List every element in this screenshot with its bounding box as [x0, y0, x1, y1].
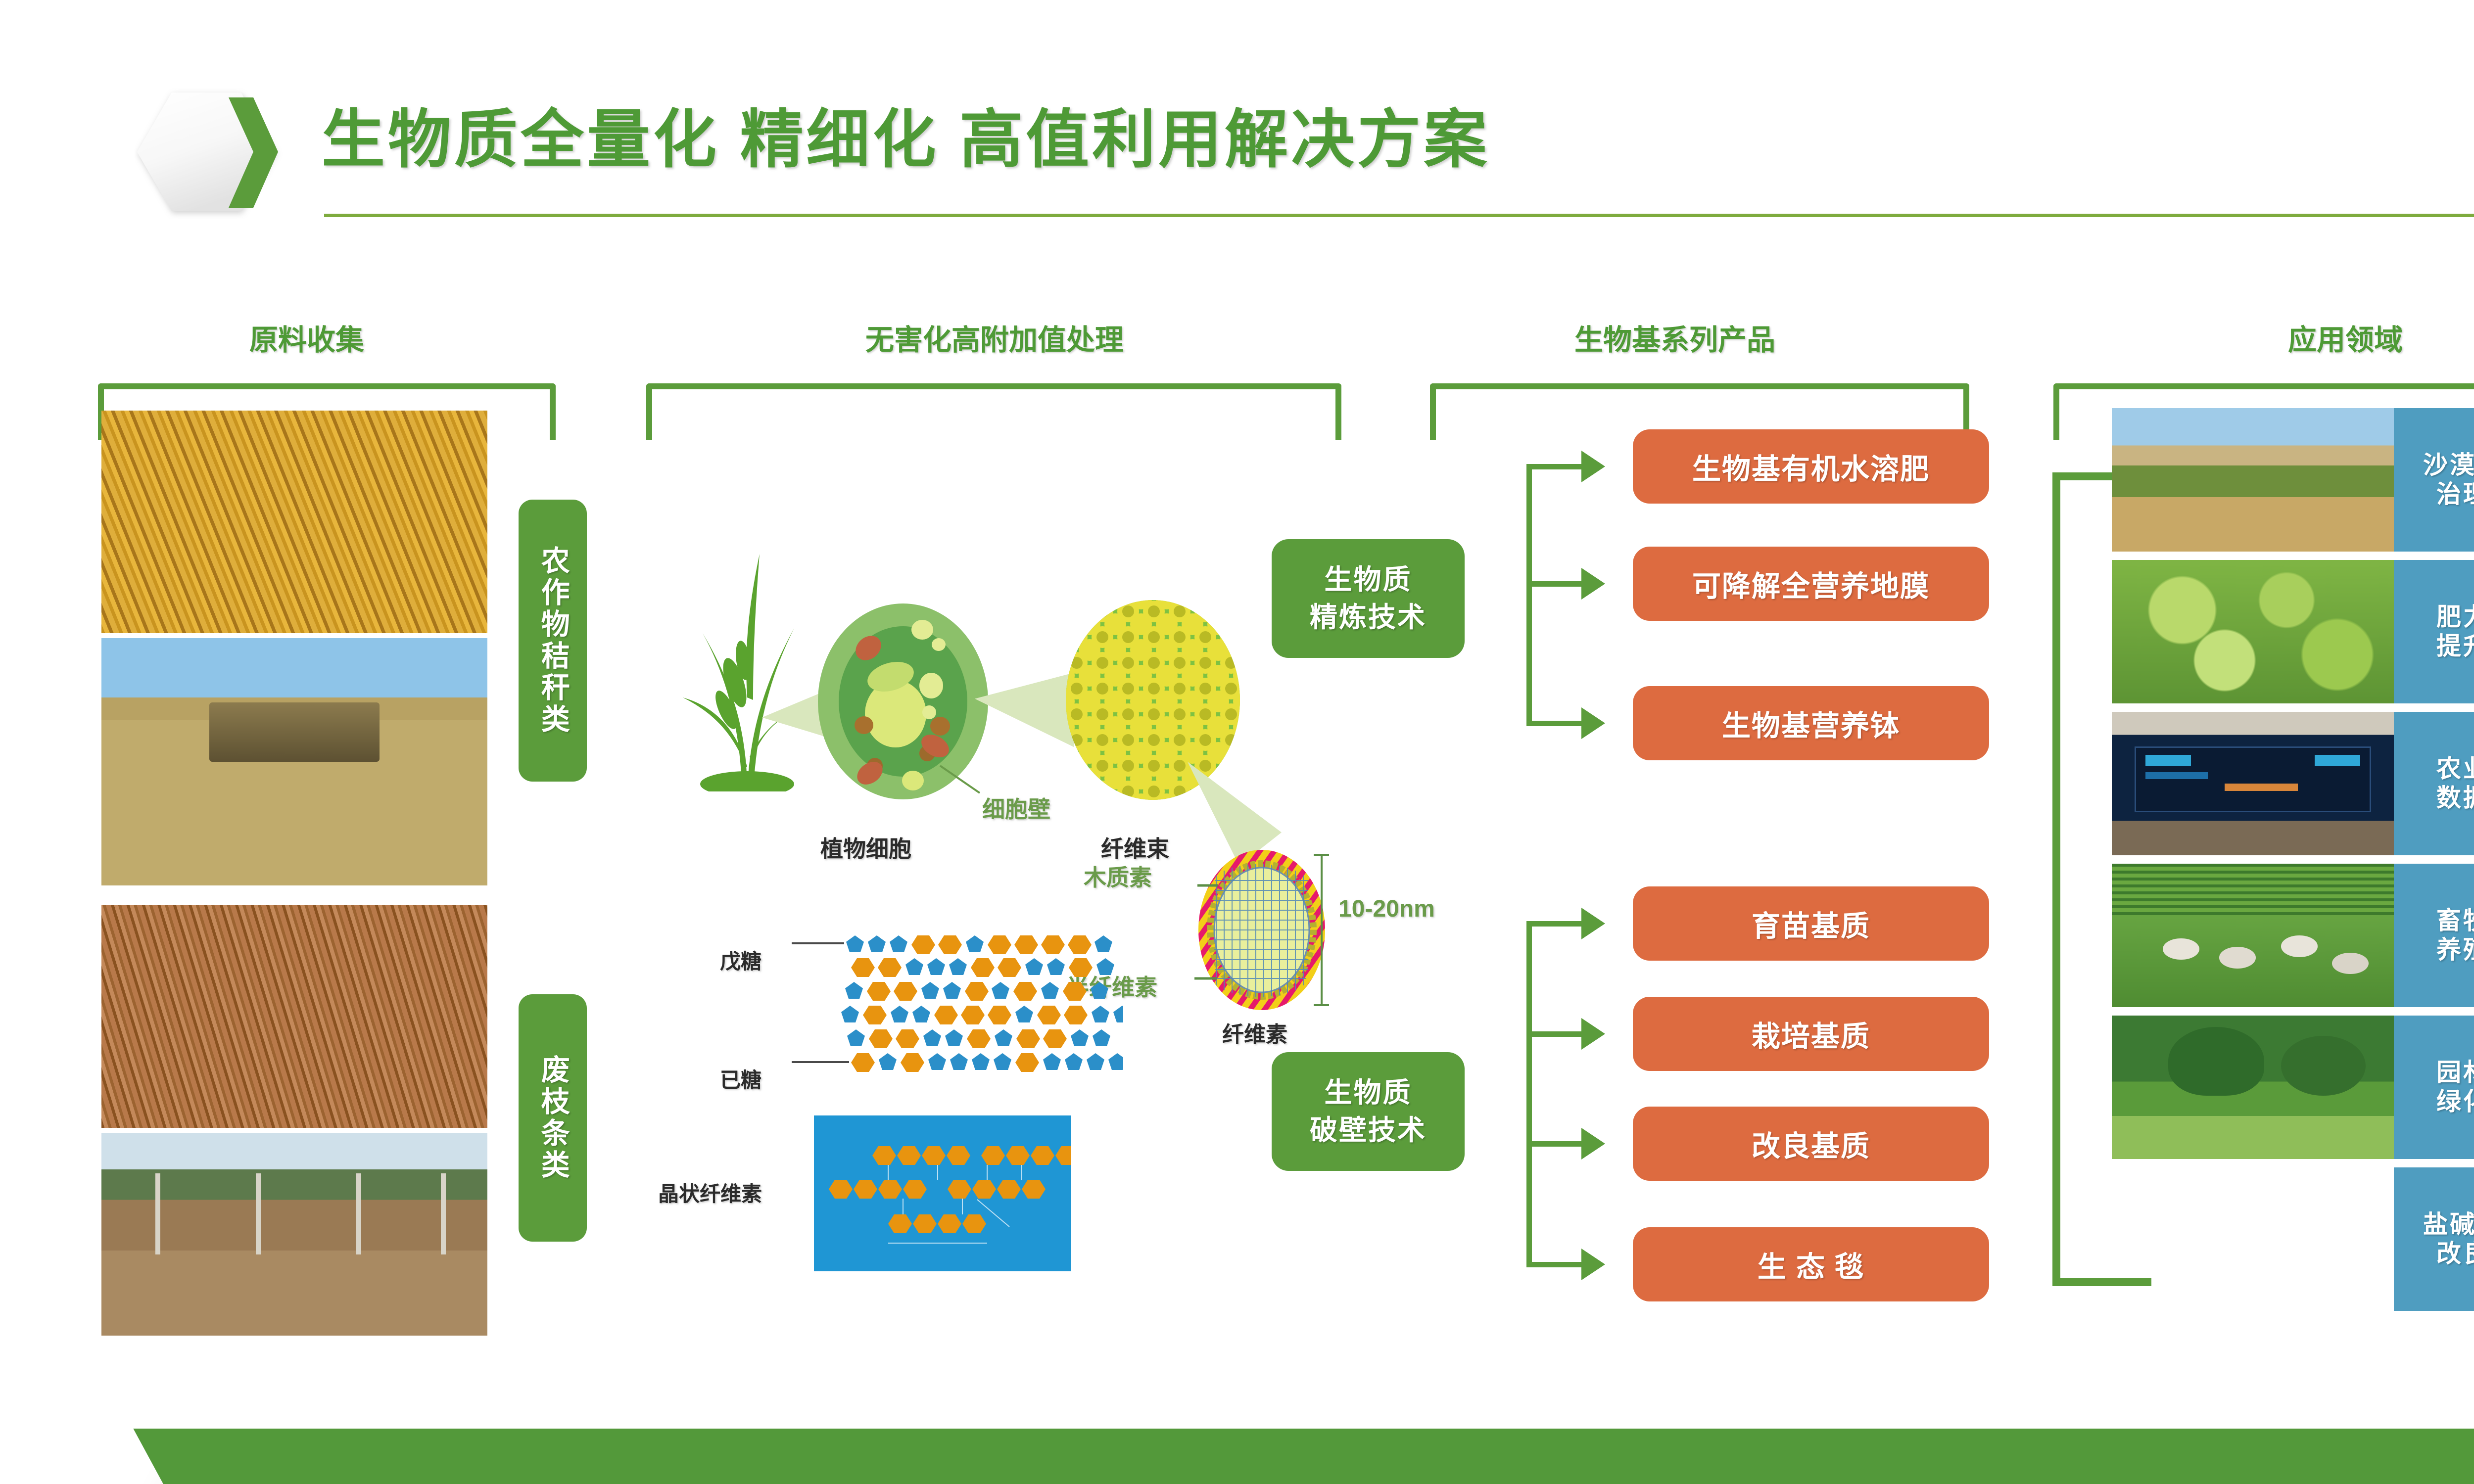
plant-cell-illustration — [816, 603, 990, 800]
application-label-landscaping: 园林绿化 — [2394, 1016, 2474, 1159]
raw-material-photo-orchard-pruning — [101, 1133, 487, 1336]
label-fiber-bundle: 纤维束 — [1101, 831, 1169, 864]
tech-line-1: 生物质 — [1325, 561, 1412, 599]
arrow-head-refining-1 — [1581, 451, 1605, 482]
column-header-processing: 无害化高附加值处理 — [732, 317, 1257, 358]
connector-trunk-breaking — [1526, 921, 1532, 1267]
tech2-line-1: 生物质 — [1325, 1074, 1412, 1112]
plant-silhouette-icon — [673, 534, 821, 791]
label-cellulose: 纤维素 — [1222, 1017, 1287, 1048]
label-lignin: 木质素 — [1084, 860, 1152, 892]
product-box-cultivation-substrate[interactable]: 栽培基质 — [1633, 997, 1989, 1071]
connector-branch-refining-1 — [1526, 464, 1583, 469]
connector-branch-refining-3 — [1526, 721, 1583, 726]
crystalline-cellulose-panel — [814, 1115, 1071, 1271]
tech-line-2: 精炼技术 — [1310, 599, 1427, 636]
label-pentose: 戊糖 — [720, 945, 761, 975]
column-header-products: 生物基系列产品 — [1405, 317, 1945, 358]
application-thumb-cabbage — [2112, 560, 2394, 703]
material-group-badge-waste-branch: 废枝条类 — [519, 994, 587, 1242]
application-thumb-saline-soil — [2112, 1167, 2394, 1311]
sugar-chain-illustration — [777, 932, 1123, 1091]
product-box-degradable-nutrient-film[interactable]: 可降解全营养地膜 — [1633, 547, 1989, 621]
connector-branch-breaking-4 — [1526, 1262, 1583, 1267]
footer-bar — [0, 1429, 2474, 1484]
connector-branch-refining-2 — [1526, 581, 1583, 587]
connector-branch-breaking-2 — [1526, 1031, 1583, 1037]
connector-branch-breaking-3 — [1526, 1141, 1583, 1147]
raw-material-photo-branches — [101, 905, 487, 1128]
column-header-raw-material: 原料收集 — [163, 317, 450, 358]
label-plant-cell: 植物细胞 — [820, 831, 911, 864]
arrow-head-refining-2 — [1581, 568, 1605, 600]
tech-box-biomass-refining[interactable]: 生物质 精炼技术 — [1272, 539, 1465, 658]
label-hexose: 已糖 — [720, 1064, 761, 1094]
page-title: 生物质全量化 精细化 高值利用解决方案 — [322, 88, 1490, 180]
label-cell-wall: 细胞壁 — [982, 791, 1050, 824]
application-thumb-desert — [2112, 408, 2394, 552]
product-box-ecological-blanket[interactable]: 生 态 毯 — [1633, 1227, 1989, 1301]
application-row-desertification[interactable]: 沙漠化治理 — [2112, 408, 2474, 552]
product-box-improvement-substrate[interactable]: 改良基质 — [1633, 1107, 1989, 1181]
product-box-bio-nutrition-pot[interactable]: 生物基营养钵 — [1633, 686, 1989, 760]
arrow-head-breaking-1 — [1581, 908, 1605, 939]
tech-box-biomass-cell-wall-breaking[interactable]: 生物质 破壁技术 — [1272, 1052, 1465, 1171]
bracket-processing — [646, 383, 1341, 440]
application-label-fertility: 肥力提升 — [2394, 560, 2474, 703]
title-area: 生物质全量化 精细化 高值利用解决方案 — [0, 0, 2474, 237]
raw-material-photo-baled-straw — [101, 638, 487, 885]
fiber-bundle-illustration — [1064, 599, 1242, 801]
application-thumb-grazing — [2112, 864, 2394, 1007]
hexagon-arrow-logo-icon — [135, 85, 283, 219]
application-thumb-control-room — [2112, 712, 2394, 855]
application-row-fertility[interactable]: 肥力提升 — [2112, 560, 2474, 703]
arrow-head-breaking-2 — [1581, 1018, 1605, 1050]
connector-branch-breaking-1 — [1526, 921, 1583, 927]
application-label-livestock: 畜牧养殖 — [2394, 864, 2474, 1007]
column-header-applications: 应用领域 — [2123, 317, 2474, 358]
label-crystalline-cellulose: 晶状纤维素 — [658, 1177, 762, 1207]
material-group-badge-crop-straw: 农作物秸秆类 — [519, 500, 587, 782]
arrow-head-breaking-4 — [1581, 1249, 1605, 1280]
application-label-saline-soil: 盐碱地改良 — [2394, 1167, 2474, 1311]
product-box-seedling-substrate[interactable]: 育苗基质 — [1633, 886, 1989, 961]
product-box-organic-water-soluble-fertilizer[interactable]: 生物基有机水溶肥 — [1633, 429, 1989, 504]
application-label-agri-data: 农业数据 — [2394, 712, 2474, 855]
application-row-livestock[interactable]: 畜牧养殖 — [2112, 864, 2474, 1007]
application-thumb-park — [2112, 1016, 2394, 1159]
fiber-cross-section-illustration — [1188, 846, 1336, 1014]
tech2-line-2: 破壁技术 — [1310, 1112, 1427, 1149]
application-label-desertification: 沙漠化治理 — [2394, 408, 2474, 552]
biomass-structure-diagram: 细胞壁 植物细胞 纤维束 — [618, 505, 1282, 1336]
magnify-cone-2 — [975, 673, 1074, 747]
arrow-head-breaking-3 — [1581, 1128, 1605, 1159]
application-row-saline-soil[interactable]: 盐碱地改良 — [2112, 1167, 2474, 1311]
label-scale-10-20nm: 10-20nm — [1338, 895, 1435, 923]
title-underline — [324, 214, 2474, 217]
raw-material-photo-corn-stover — [101, 411, 487, 633]
application-row-agri-data[interactable]: 农业数据 — [2112, 712, 2474, 855]
application-row-landscaping[interactable]: 园林绿化 — [2112, 1016, 2474, 1159]
arrow-head-refining-3 — [1581, 707, 1605, 739]
connector-trunk-refining — [1526, 464, 1532, 726]
